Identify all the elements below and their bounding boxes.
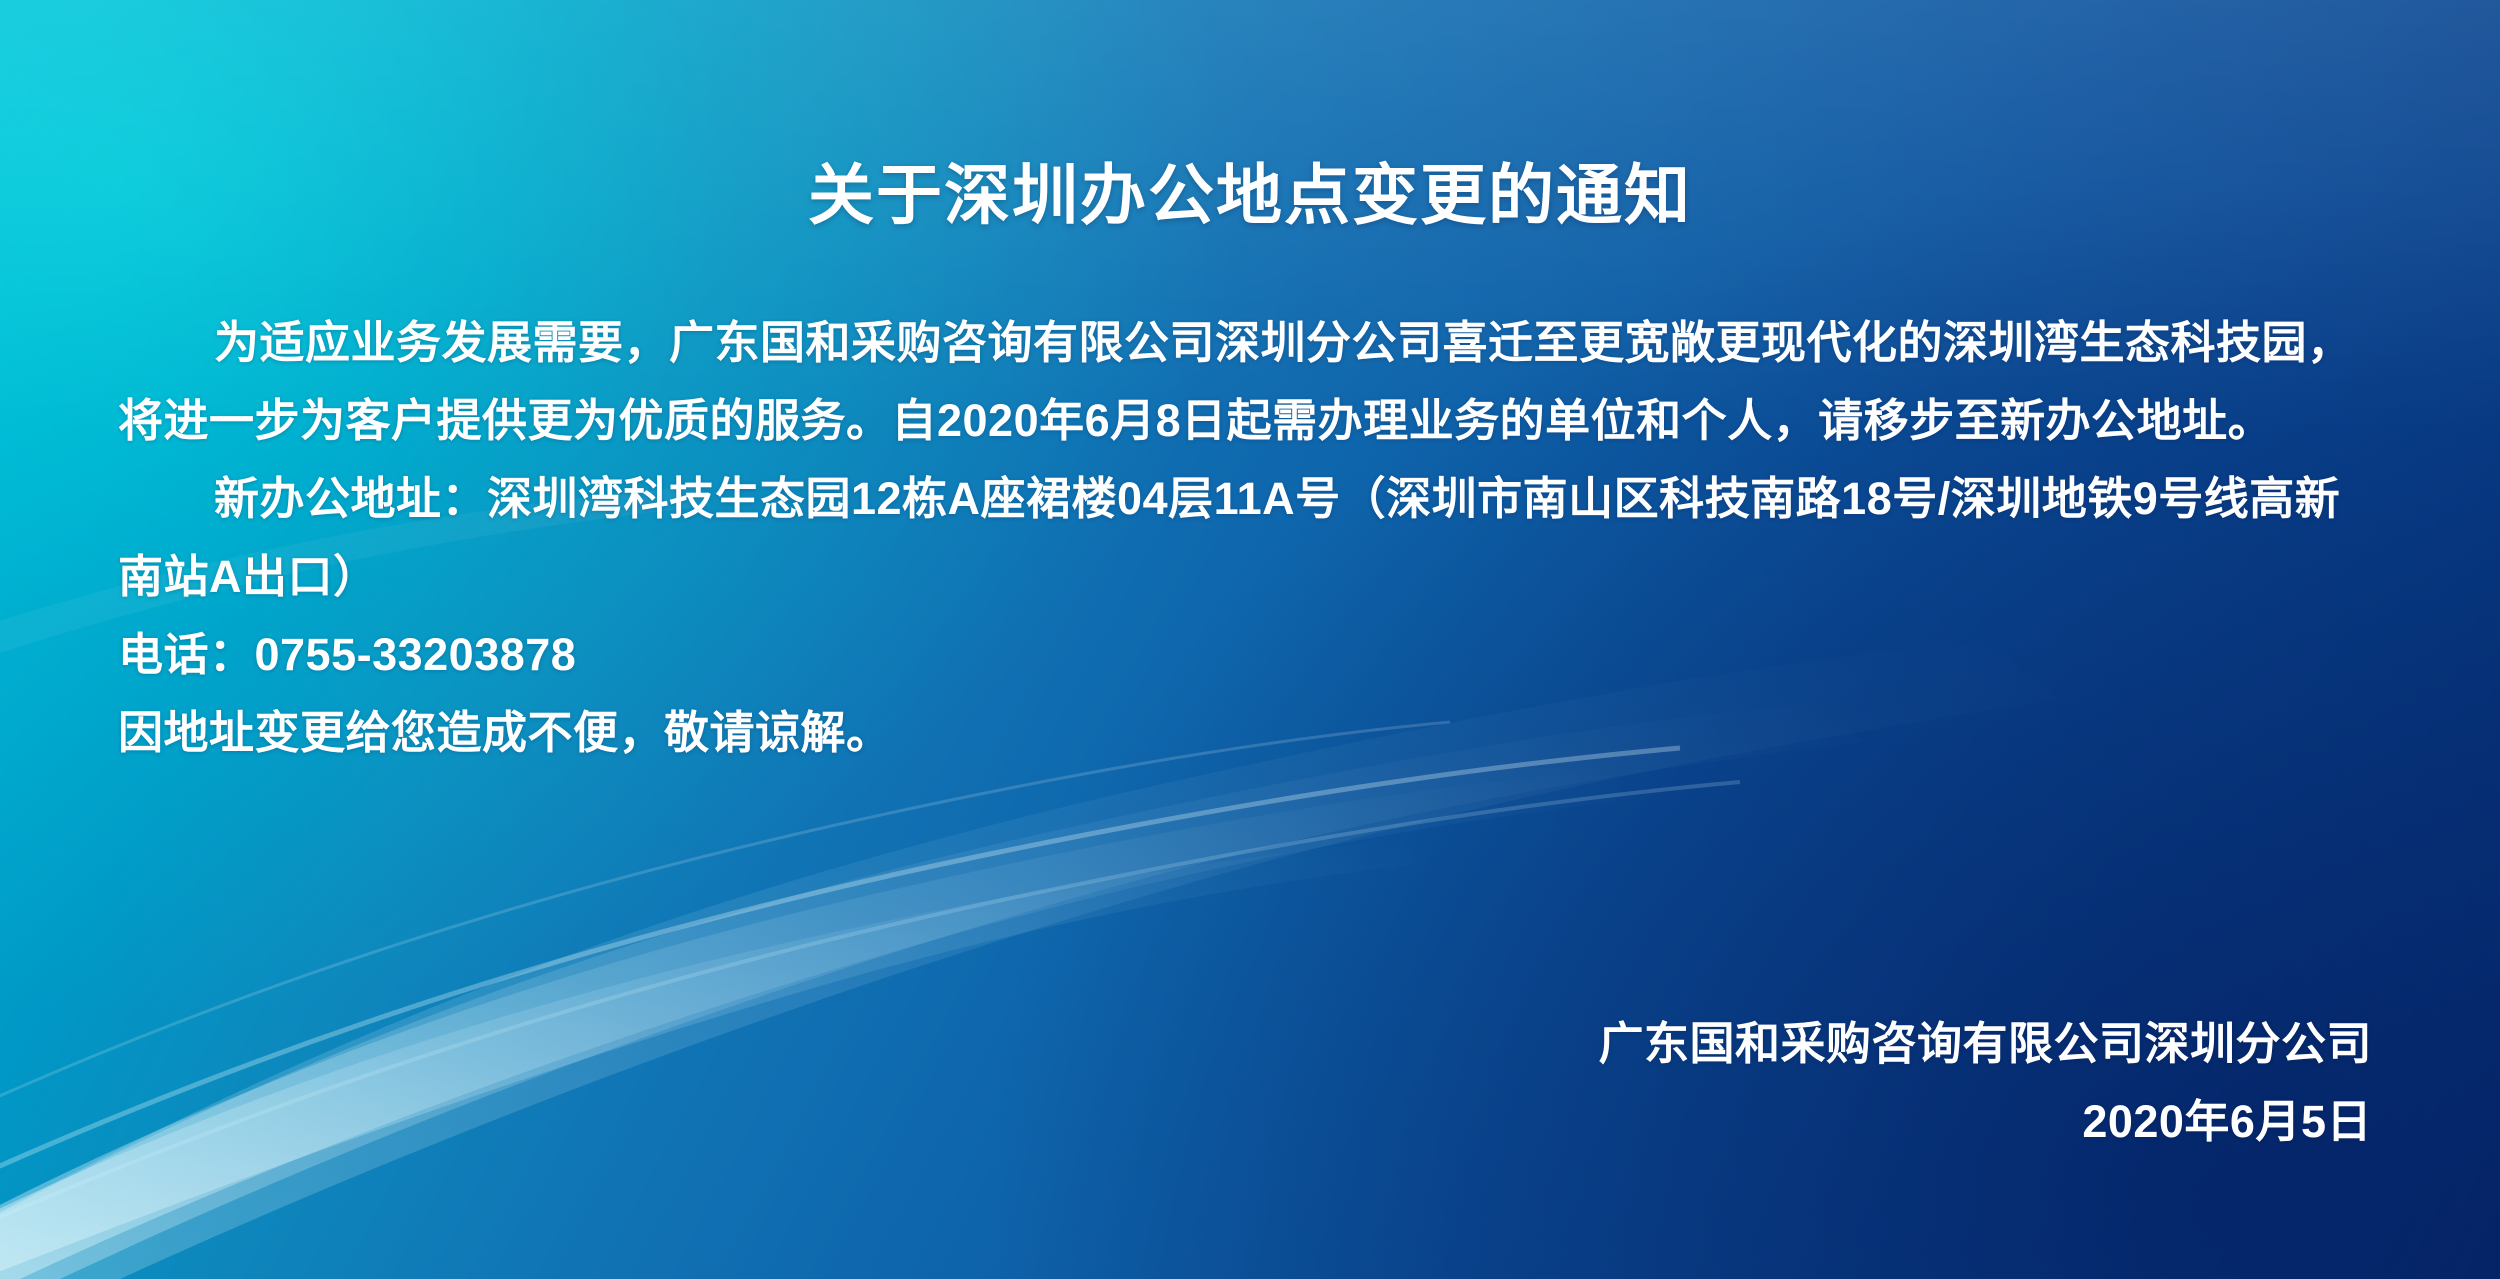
signature-date: 2020年6月5日 — [1598, 1083, 2372, 1161]
paragraph-address: 新办公地址：深圳湾科技生态园12栋A座裙楼04层11A号（深圳市南山区科技南路1… — [118, 460, 2382, 616]
notice-banner: 关于深圳办公地点变更的通知 为适应业务发展需要，广东国和采购咨询有限公司深圳分公… — [0, 0, 2500, 1279]
notice-body: 为适应业务发展需要，广东国和采购咨询有限公司深圳分公司喜迁至更宽敞更现代化的深圳… — [118, 304, 2382, 772]
page-title: 关于深圳办公地点变更的通知 — [118, 44, 2382, 228]
paragraph-apology: 因地址变更给您造成不便，敬请谅解。 — [118, 694, 2382, 772]
signature-block: 广东国和采购咨询有限公司深圳分公司 2020年6月5日 — [1598, 1005, 2372, 1161]
paragraph-phone: 电话：0755-33203878 — [118, 616, 2382, 694]
paragraph-intro: 为适应业务发展需要，广东国和采购咨询有限公司深圳分公司喜迁至更宽敞更现代化的深圳… — [118, 304, 2382, 460]
signature-organization: 广东国和采购咨询有限公司深圳分公司 — [1598, 1005, 2372, 1083]
